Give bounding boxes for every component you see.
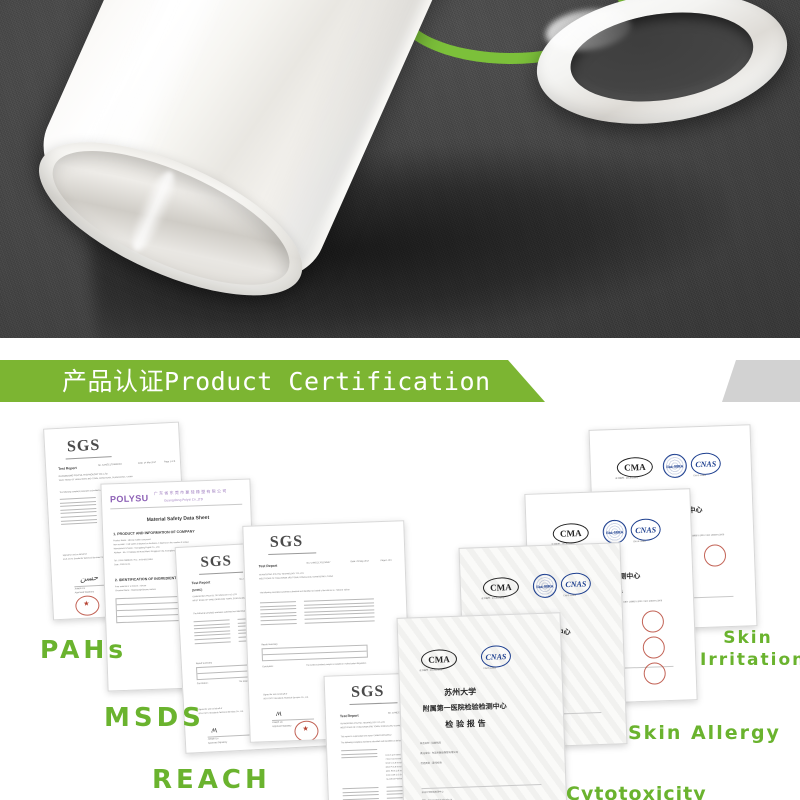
doc-signed-org: SGS-CSTC Standards Technical Services Co… [263, 697, 308, 702]
cnas-mark-icon: CNAS [560, 572, 591, 595]
signer-role: Approved Signatory [208, 742, 227, 746]
stamp-star-icon: ★ [302, 726, 309, 733]
sgs-logo: SGS [67, 437, 101, 457]
certificate-collage: SGS Test Report No. CANEC1703852004 Date… [0, 415, 800, 800]
sgs-logo: SGS [351, 683, 385, 702]
sgs-logo: SGS [270, 533, 304, 552]
cnas-sub: CNAS L2894 [563, 595, 576, 599]
product-detail-page: 产品认证Product Certification 永乐 永乐橡塑 YONGLE… [0, 0, 800, 800]
sgs-underline [268, 552, 316, 555]
cma-mark-icon: CMA [421, 649, 458, 670]
doc-title: Test Report [58, 466, 77, 471]
certificate-cn-4[interactable]: CMA 证书编号 : 2013015005 CNAS CNAS L2894 苏州… [397, 612, 568, 800]
sgs-logo: SGS [200, 553, 232, 572]
doc-date: Date: 23 May 2017 [351, 560, 370, 564]
sgs-underline [66, 456, 112, 459]
caption-cytotoxicity: Cytotoxicity [566, 783, 707, 800]
doc-title: Test Report [191, 580, 210, 585]
doc-title: Test Report [259, 564, 278, 569]
cn-row: 委托单位 : 东莞市聚硅橡塑有限公司 [420, 751, 458, 756]
msds-section-1: 1. PRODUCT AND INFORMATION OF COMPANY [113, 529, 195, 536]
caption-msds: MSDS [104, 703, 205, 733]
doc-spec: (SVHC) [192, 588, 203, 593]
caption-skin-irritation: Skin Irritation [700, 627, 796, 671]
doc-title: Test Report [340, 714, 359, 719]
ilac-mark-icon: ilac-MRA [532, 573, 557, 598]
cma-mark-icon: CMA [483, 577, 520, 598]
polysu-cn-header: 广 东 省 东 莞 市 聚 硅 橡 塑 有 限 公 司 [154, 488, 227, 497]
cnas-mark-icon: CNAS [690, 452, 721, 475]
msds-s1-row: Tel : 0769-23888108 / Fax : 0769-8623185… [114, 559, 153, 564]
cn-org: 苏州大学 [444, 686, 476, 698]
official-stamp [642, 636, 665, 659]
doc-statement: This report is superseded test report CA… [341, 735, 392, 740]
msds-s1-row: Date : 2009-02-01 [114, 564, 130, 568]
msds-s2-row: Chemical Name : Organopolysiloxane mixtu… [115, 589, 156, 594]
ilac-mark-icon: ilac-MRA [602, 519, 627, 544]
doc-field-lines-2 [342, 787, 379, 800]
cn-center: 附属第一医院检验检测中心 [423, 701, 507, 714]
doc-date: Date: 24 Mar 2017 [138, 462, 156, 466]
doc-report-no: No. CANEC1701234567 [307, 562, 331, 566]
doc-conclusion: Conclusion : [197, 683, 209, 687]
doc-field-lines [194, 619, 231, 646]
polysu-logo: POLYSU [110, 493, 149, 504]
section-title: 产品认证Product Certification [62, 365, 522, 399]
cma-code: 证书编号 : 2013015005 [481, 597, 504, 601]
official-stamp [704, 544, 727, 567]
signer-role: Approved Signatory [272, 725, 291, 729]
sgs-underline [350, 702, 398, 705]
doc-field-lines [260, 601, 297, 627]
cn-std: GB/T 16886.5-2003 / ISO 10993-5:2009 [623, 600, 662, 605]
doc-field-lines [341, 749, 377, 761]
caption-skin-allergy: Skin Allergy [628, 722, 781, 744]
msds-section-2: 2. IDENTIFICATION OF INGREDIENT [115, 576, 177, 582]
doc-intro: The following sample(s) was/were submitt… [260, 589, 350, 596]
official-stamp [643, 662, 666, 685]
banner-gray-tab [722, 360, 800, 402]
polysu-en-header: Guangdong Polysi Co.,LTD [164, 497, 203, 502]
signature: حسن [80, 573, 99, 583]
cma-code: 证书编号 : 2013015005 [615, 477, 638, 481]
cnas-sub: CNAS L2894 [633, 541, 646, 545]
header-rule [110, 504, 242, 510]
cma-mark-icon: CMA [617, 457, 654, 478]
section-header: 产品认证Product Certification 永乐 永乐橡塑 YONGLE… [0, 338, 800, 420]
signature: ʍ [276, 708, 282, 718]
cma-code: 证书编号 : 2013015005 [419, 669, 442, 673]
msds-title: Material Safety Data Sheet [147, 515, 210, 523]
official-stamp [642, 610, 665, 633]
doc-page: Page 1 of 6 [381, 560, 392, 564]
result-table [262, 645, 368, 662]
caption-reach: REACH [152, 765, 271, 795]
sgs-underline [199, 572, 243, 575]
doc-conclusion: Conclusion : [262, 666, 274, 670]
cn-footer-org: 苏州大学检验检测中心 [422, 791, 444, 795]
doc-conclusion-value: The tested submitted sample is compliant… [306, 663, 366, 669]
cn-row: 检验类别 : 委托检验 [421, 761, 442, 765]
stamp-star-icon: ★ [83, 601, 90, 608]
signature: ʍ [211, 724, 218, 734]
ilac-mark-icon: ilac-MRA [662, 453, 687, 478]
product-photo [0, 0, 800, 338]
doc-page: Page 1 of 6 [164, 461, 175, 465]
cnas-mark-icon: CNAS [481, 645, 512, 668]
cma-mark-icon: CMA [552, 523, 589, 544]
cnas-mark-icon: CNAS [630, 518, 661, 541]
cnas-sub: CNAS L2894 [483, 667, 496, 671]
cn-row: 样品名称 : 硅胶制品 [420, 741, 441, 745]
doc-field-lines [60, 497, 97, 528]
doc-value-lines [304, 598, 375, 626]
cn-report: 检 验 报 告 [445, 718, 486, 730]
cnas-sub: CNAS L2894 [693, 475, 706, 479]
caption-pahs: PAHs [40, 635, 127, 664]
footer-rule [421, 784, 541, 789]
signature-line [208, 734, 250, 737]
doc-report-no: No. CANEC1703852004 [98, 464, 122, 469]
